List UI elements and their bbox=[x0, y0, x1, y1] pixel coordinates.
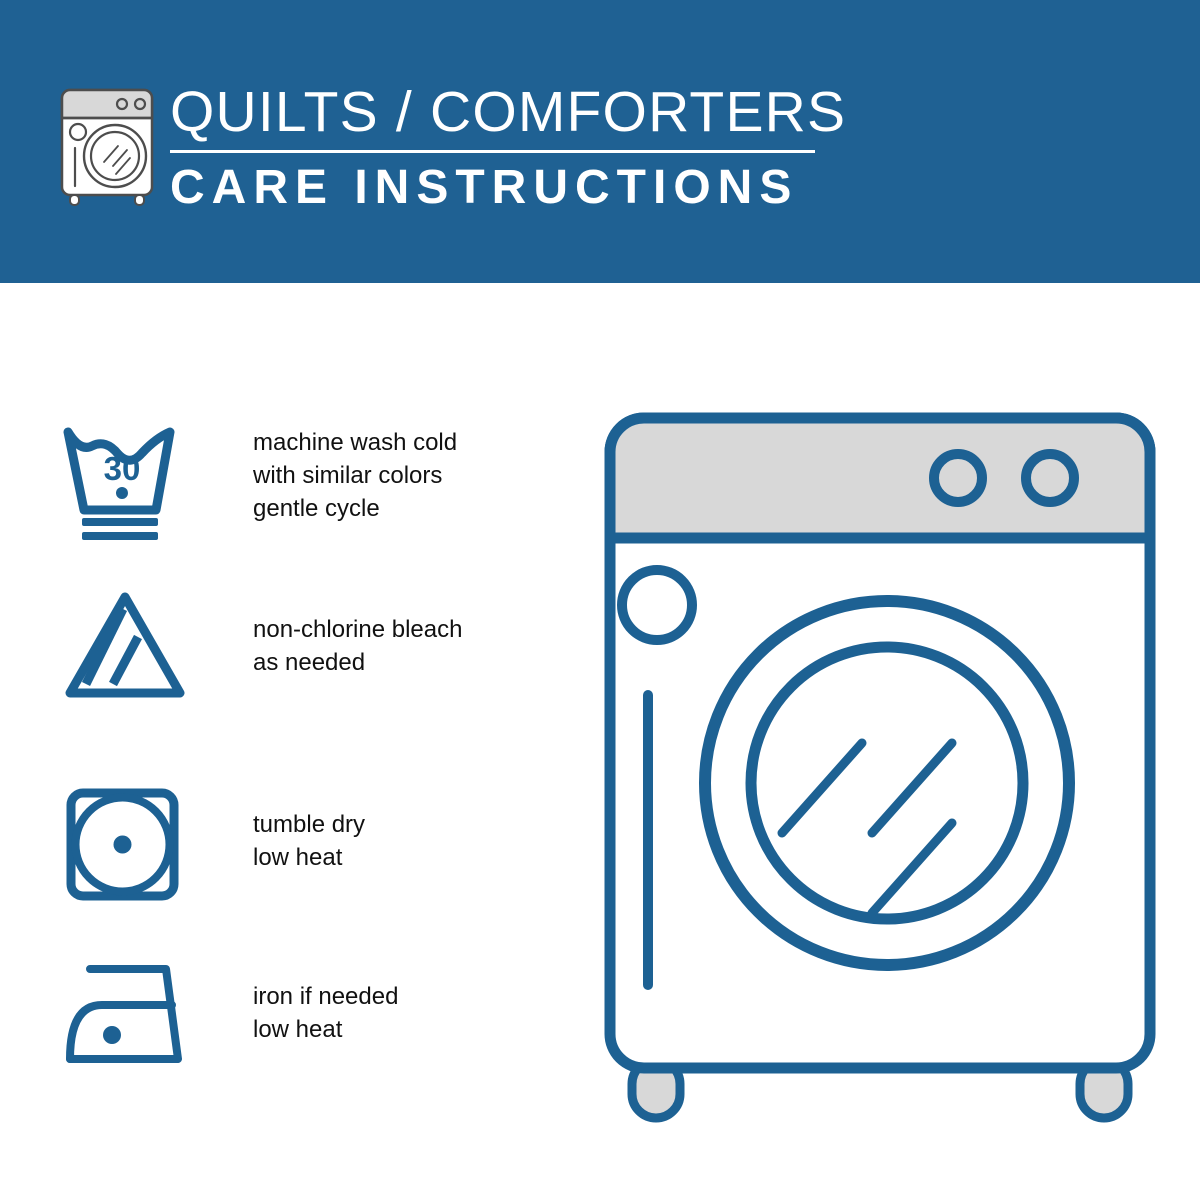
care-text-line: with similar colors bbox=[253, 459, 457, 492]
care-text-line: gentle cycle bbox=[253, 492, 457, 525]
care-text-line: low heat bbox=[253, 841, 365, 874]
iron-low-heat-icon bbox=[60, 955, 190, 1085]
page-subtitle: CARE INSTRUCTIONS bbox=[170, 161, 830, 215]
front-load-washing-machine-illustration bbox=[600, 405, 1170, 1125]
header-banner: QUILTS / COMFORTERS CARE INSTRUCTIONS bbox=[0, 0, 1200, 283]
care-text-wash: machine wash cold with similar colors ge… bbox=[253, 426, 457, 525]
care-row-iron: iron if needed low heat bbox=[0, 955, 520, 1085]
care-text-bleach: non-chlorine bleach as needed bbox=[253, 613, 462, 679]
bleach-triangle-striped-icon bbox=[60, 585, 190, 715]
care-text-line: machine wash cold bbox=[253, 426, 457, 459]
care-text-line: low heat bbox=[253, 1013, 398, 1046]
care-text-line: tumble dry bbox=[253, 808, 365, 841]
care-row-wash: 30 machine wash cold with similar colors… bbox=[0, 418, 520, 548]
wash-tub-30-icon: 30 bbox=[60, 418, 190, 548]
wash-temperature-value: 30 bbox=[104, 450, 141, 487]
care-text-dry: tumble dry low heat bbox=[253, 808, 365, 874]
care-text-line: iron if needed bbox=[253, 980, 398, 1013]
care-text-line: as needed bbox=[253, 646, 462, 679]
washing-machine-icon bbox=[52, 82, 162, 207]
care-text-iron: iron if needed low heat bbox=[253, 980, 398, 1046]
care-text-line: non-chlorine bleach bbox=[253, 613, 462, 646]
tumble-dry-low-icon bbox=[60, 780, 190, 910]
care-row-bleach: non-chlorine bleach as needed bbox=[0, 585, 520, 715]
page-title: QUILTS / COMFORTERS bbox=[170, 80, 830, 144]
care-instructions-page: QUILTS / COMFORTERS CARE INSTRUCTIONS 30… bbox=[0, 0, 1200, 1200]
header-title-block: QUILTS / COMFORTERS CARE INSTRUCTIONS bbox=[170, 80, 830, 215]
care-row-dry: tumble dry low heat bbox=[0, 780, 520, 910]
title-divider bbox=[170, 150, 815, 153]
